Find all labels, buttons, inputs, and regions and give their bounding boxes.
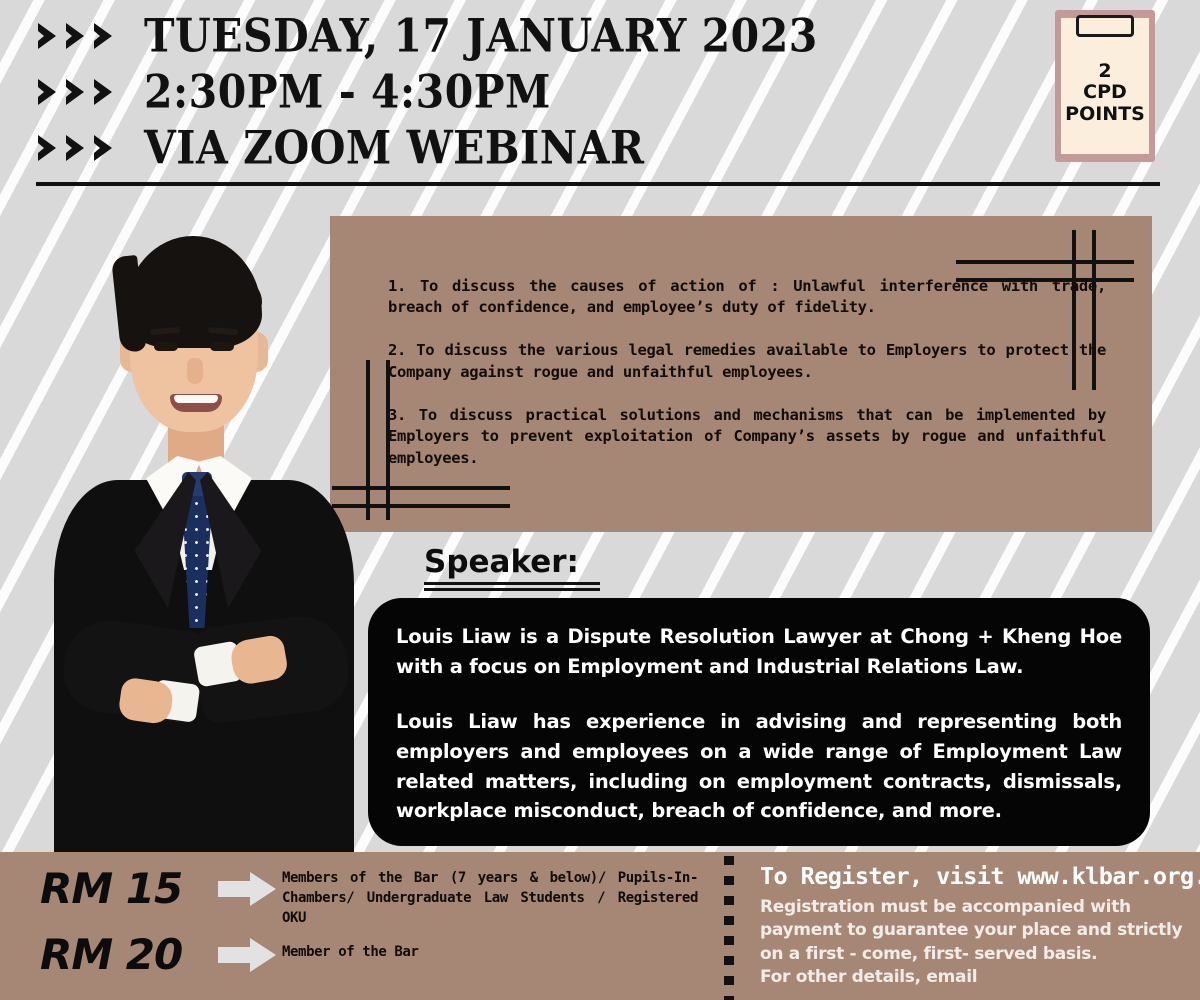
cpd-label-line2: POINTS (1065, 104, 1145, 125)
registration-line-2: payment to guarantee your place and stri… (760, 919, 1185, 942)
objective-item-1: 1. To discuss the causes of action of : … (388, 276, 1106, 319)
event-date: TUESDAY, 17 JANUARY 2023 (144, 9, 818, 63)
objective-item-2: 2. To discuss the various legal remedies… (388, 340, 1106, 383)
speaker-heading-underline-1 (424, 582, 600, 585)
event-time: 2:30PM - 4:30PM (144, 65, 551, 119)
price-description: Members of the Bar (7 years & below)/ Pu… (282, 868, 698, 928)
triple-chevron-right-icon (36, 77, 144, 107)
header-divider (36, 182, 1160, 186)
speaker-bio-box: Louis Liaw is a Dispute Resolution Lawye… (368, 598, 1150, 846)
objectives-box: 1. To discuss the causes of action of : … (330, 216, 1152, 532)
poster-canvas: TUESDAY, 17 JANUARY 2023 2:30PM - 4:30PM (0, 0, 1200, 1000)
pricing-row: RM 20 Member of the Bar (40, 930, 698, 979)
speaker-portrait (20, 228, 370, 852)
clipboard-clip-icon (1076, 15, 1134, 37)
pricing-section: RM 15 Members of the Bar (7 years & belo… (0, 852, 720, 1000)
arrow-right-icon (218, 938, 282, 972)
speaker-heading-underline-2 (424, 588, 600, 591)
header-row-date: TUESDAY, 17 JANUARY 2023 (36, 8, 1046, 64)
speaker-bio-paragraph-1: Louis Liaw is a Dispute Resolution Lawye… (396, 622, 1122, 681)
objective-item-3: 3. To discuss practical solutions and me… (388, 405, 1106, 469)
price-amount: RM 15 (40, 864, 218, 913)
speaker-heading: Speaker: (424, 544, 600, 591)
arrow-right-icon (218, 872, 282, 906)
cpd-points-number: 2 (1098, 61, 1111, 82)
registration-title[interactable]: To Register, visit www.klbar.org.my (760, 862, 1185, 890)
event-venue: VIA ZOOM WEBINAR (144, 121, 645, 175)
clipboard-icon: 2 CPD POINTS (1061, 18, 1149, 154)
triple-chevron-right-icon (36, 21, 144, 51)
triple-chevron-right-icon (36, 133, 144, 163)
pricing-row: RM 15 Members of the Bar (7 years & belo… (40, 864, 698, 928)
vertical-dotted-divider (724, 856, 734, 1000)
registration-line-1: Registration must be accompanied with (760, 896, 1185, 919)
registration-line-4: For other details, email (760, 966, 1185, 989)
speaker-bio-paragraph-2: Louis Liaw has experience in advising an… (396, 707, 1122, 826)
price-description: Member of the Bar (282, 942, 698, 962)
objectives-list: 1. To discuss the causes of action of : … (388, 260, 1106, 469)
header-row-venue: VIA ZOOM WEBINAR (36, 120, 1046, 176)
cpd-label-line1: CPD (1083, 82, 1127, 103)
registration-line-3: on a first - come, first- served basis. (760, 943, 1185, 966)
speaker-heading-label: Speaker: (424, 544, 600, 580)
registration-section: To Register, visit www.klbar.org.my Regi… (760, 862, 1185, 990)
price-amount: RM 20 (40, 930, 218, 979)
header-row-time: 2:30PM - 4:30PM (36, 64, 1046, 120)
event-header: TUESDAY, 17 JANUARY 2023 2:30PM - 4:30PM (36, 8, 1046, 176)
cpd-points-badge: 2 CPD POINTS (1055, 10, 1155, 162)
